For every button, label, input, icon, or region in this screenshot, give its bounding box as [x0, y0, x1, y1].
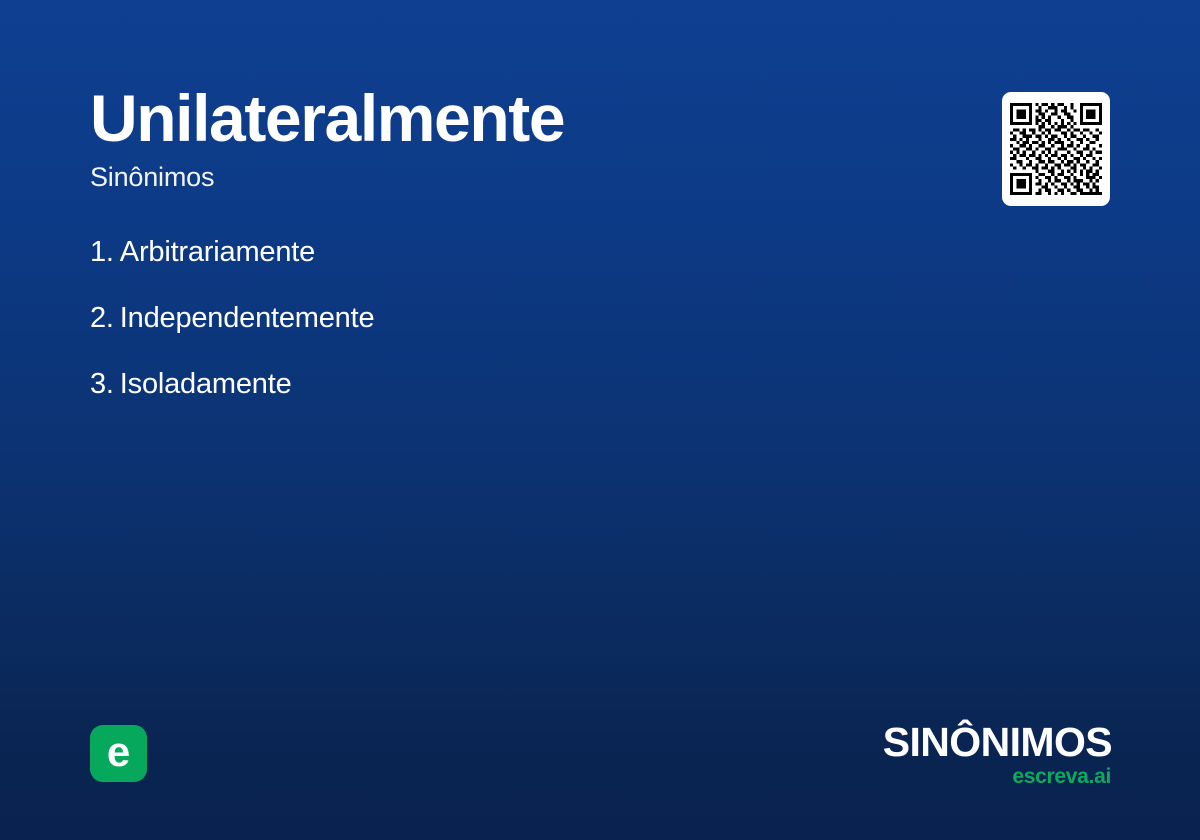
section-label: Sinônimos	[90, 162, 970, 193]
wordmark-primary-label: SINÔNIMOS	[883, 722, 1112, 763]
list-item-label: Independentemente	[120, 302, 375, 334]
synonym-card: Unilateralmente Sinônimos 1.Arbitrariame…	[0, 0, 1200, 840]
list-item-label: Arbitrariamente	[120, 236, 315, 268]
page-title: Unilateralmente	[90, 84, 970, 153]
escreva-logo-badge[interactable]: e	[90, 725, 147, 782]
list-item-index: 2.	[90, 302, 114, 334]
brand-wordmark[interactable]: SINÔNIMOS escreva.ai	[883, 722, 1112, 787]
list-item-index: 1.	[90, 236, 114, 268]
list-item: 2.Independentemente	[90, 304, 910, 337]
list-item: 1.Arbitrariamente	[90, 238, 910, 271]
list-item-index: 3.	[90, 368, 114, 400]
qr-code-card[interactable]	[1002, 92, 1110, 206]
brand-badge-letter: e	[107, 731, 130, 773]
list-item: 3.Isoladamente	[90, 370, 910, 403]
headline-block: Unilateralmente Sinônimos	[90, 84, 970, 193]
qr-code-icon	[1010, 103, 1102, 195]
synonym-list: 1.Arbitrariamente 2.Independentemente 3.…	[90, 238, 910, 436]
wordmark-secondary-label: escreva.ai	[883, 766, 1111, 787]
list-item-label: Isoladamente	[120, 368, 292, 400]
